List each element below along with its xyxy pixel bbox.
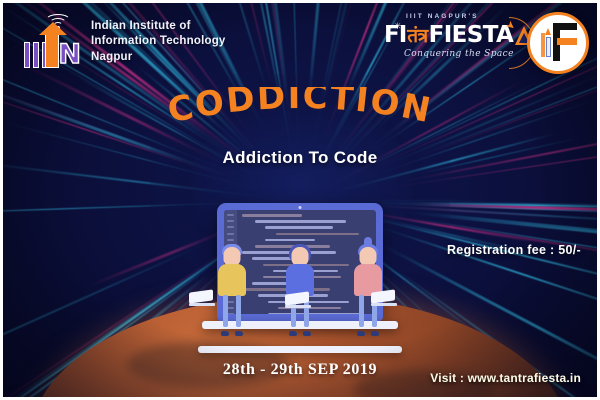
legs-icon [223, 295, 241, 333]
page-title: CODDICTION [164, 87, 435, 131]
poster-subtitle: Addiction To Code [3, 148, 597, 168]
webcam-dot-icon [299, 206, 302, 209]
wordmark-fiesta: FIESTA [429, 22, 514, 48]
institute-name: Indian Institute of Information Technolo… [91, 19, 226, 65]
poster-header: N Indian Institute of Information Techno… [3, 3, 597, 81]
logo-letter-n: N [58, 41, 81, 68]
sweater-icon [218, 264, 246, 296]
letter-f-icon [553, 23, 577, 61]
coders-group [205, 245, 395, 345]
wordmark-devanagari: तंत्र [407, 22, 427, 48]
tantra-fiesta-badge-icon [527, 12, 589, 74]
tantra-fiesta-wordmark: ✳ IIIT NAGPUR'S FI तंत्र FIESTA Conqueri… [384, 13, 529, 71]
bench-icon [198, 346, 402, 353]
institute-name-line2: Information Technology [91, 34, 226, 49]
mini-laptop-icon [371, 291, 397, 306]
institute-name-line1: Indian Institute of [91, 19, 226, 34]
logo-arrow-icon [45, 30, 59, 68]
coder-right [341, 247, 395, 345]
mini-laptop-icon [189, 291, 215, 306]
coder-center [273, 247, 327, 345]
institute-name-line3: Nagpur [91, 50, 226, 65]
event-poster: N Indian Institute of Information Techno… [0, 0, 600, 400]
mini-laptop-icon [285, 293, 311, 308]
iiit-nagpur-logo-icon: N [21, 16, 83, 72]
hoodie-icon [286, 264, 314, 296]
registration-fee: Registration fee : 50/- [447, 243, 581, 257]
wordmark-fi: FI [384, 22, 406, 48]
website-link[interactable]: Visit : www.tantrafiesta.in [430, 371, 581, 385]
fest-tagline: Conquering the Space [404, 49, 514, 59]
coder-left [205, 247, 259, 345]
fest-presenter: IIIT NAGPUR'S [406, 13, 479, 20]
poster-title: CODDICTION [3, 87, 597, 149]
